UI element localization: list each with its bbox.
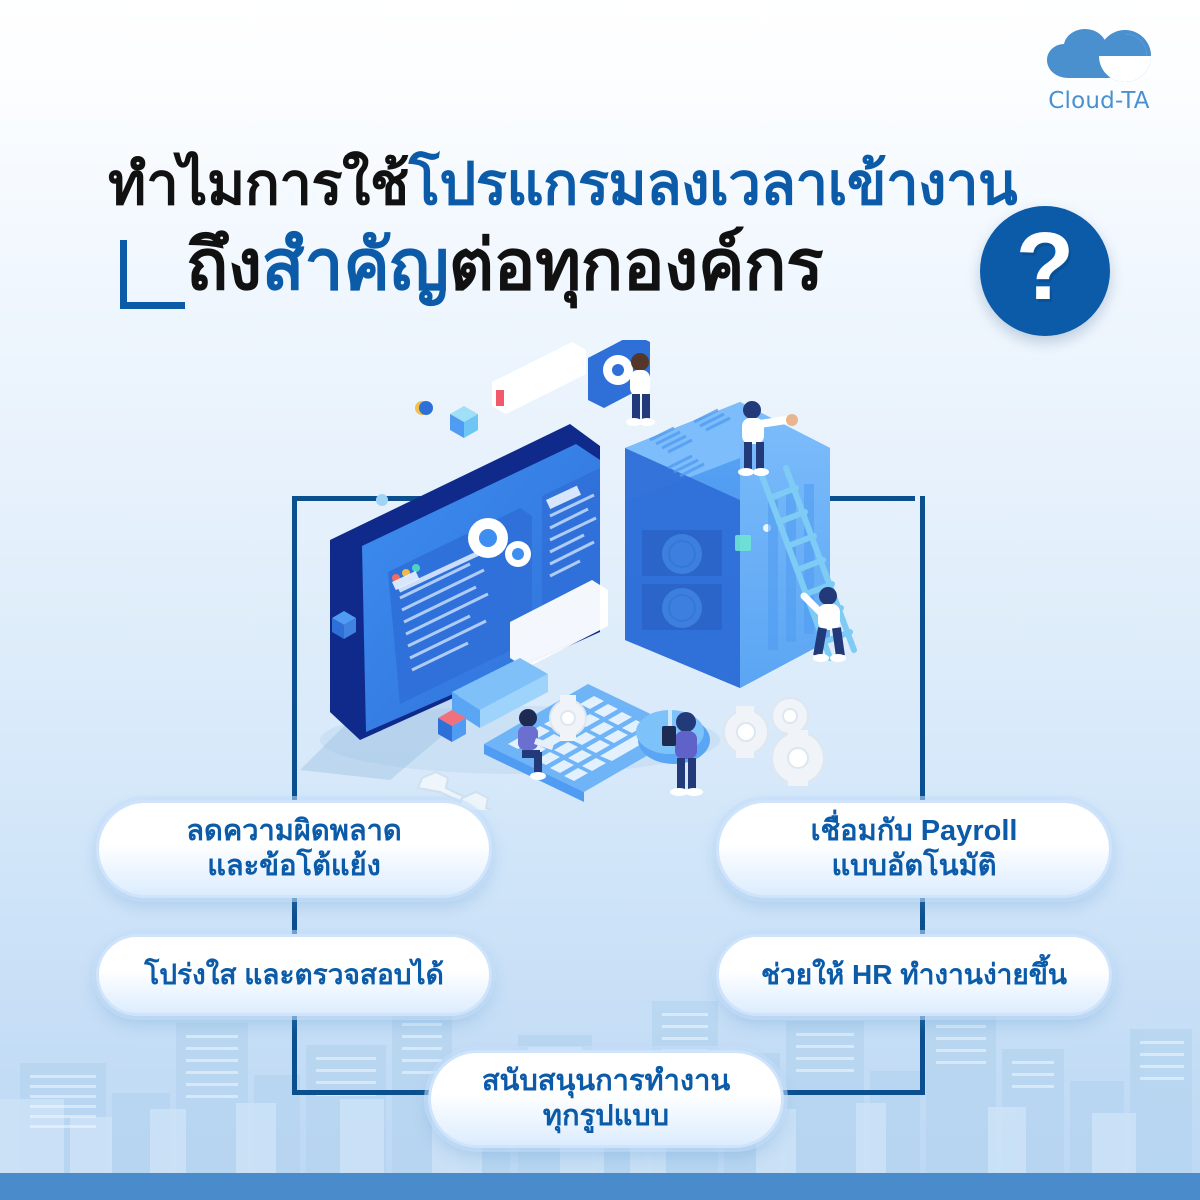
benefit-pill-reduce-errors[interactable]: ลดความผิดพลาด และข้อโต้แย้ง xyxy=(96,800,492,898)
headline-line-1-plain: ทำไมการใช้ xyxy=(108,152,409,217)
benefit-pill-hr-easier[interactable]: ช่วยให้ HR ทำงานง่ายขึ้น xyxy=(716,934,1112,1016)
infographic-canvas: Cloud-TA ทำไมการใช้โปรแกรมลงเวลาเข้างาน … xyxy=(0,0,1200,1200)
headline-line-2-accent: สำคัญ xyxy=(262,226,449,304)
benefit-pill-label: ช่วยให้ HR ทำงานง่ายขึ้น xyxy=(747,958,1081,992)
benefit-pill-label: สนับสนุนการทำงาน ทุกรูปแบบ xyxy=(468,1064,744,1135)
benefit-pill-label: ลดความผิดพลาด และข้อโต้แย้ง xyxy=(172,814,416,885)
headline-line-2: ถึงสำคัญต่อทุกองค์กร xyxy=(186,230,823,300)
benefit-pill-transparency[interactable]: โปร่งใส และตรวจสอบได้ xyxy=(96,934,492,1016)
headline-bracket-icon xyxy=(120,240,185,309)
benefit-pill-label: โปร่งใส และตรวจสอบได้ xyxy=(130,958,458,992)
isometric-it-illustration xyxy=(270,340,910,810)
benefit-pill-supports-all-modes[interactable]: สนับสนุนการทำงาน ทุกรูปแบบ xyxy=(428,1050,784,1148)
headline-line-2-plain-end: ต่อทุกองค์กร xyxy=(449,226,824,304)
question-mark-glyph: ? xyxy=(1016,219,1075,315)
question-mark-badge: ? xyxy=(980,206,1110,336)
headline-line-1-accent: โปรแกรมลงเวลาเข้างาน xyxy=(409,152,1017,217)
bottom-color-bar xyxy=(0,1173,1200,1200)
headline-line-2-plain-start: ถึง xyxy=(186,226,262,304)
cloud-clock-icon xyxy=(1039,26,1159,86)
benefit-pill-payroll-integration[interactable]: เชื่อมกับ Payroll แบบอัตโนมัติ xyxy=(716,800,1112,898)
brand-name: Cloud-TA xyxy=(1024,88,1174,114)
benefit-pill-label: เชื่อมกับ Payroll แบบอัตโนมัติ xyxy=(797,814,1032,885)
headline-line-1: ทำไมการใช้โปรแกรมลงเวลาเข้างาน xyxy=(108,156,1017,214)
brand-logo[interactable]: Cloud-TA xyxy=(1024,26,1174,122)
